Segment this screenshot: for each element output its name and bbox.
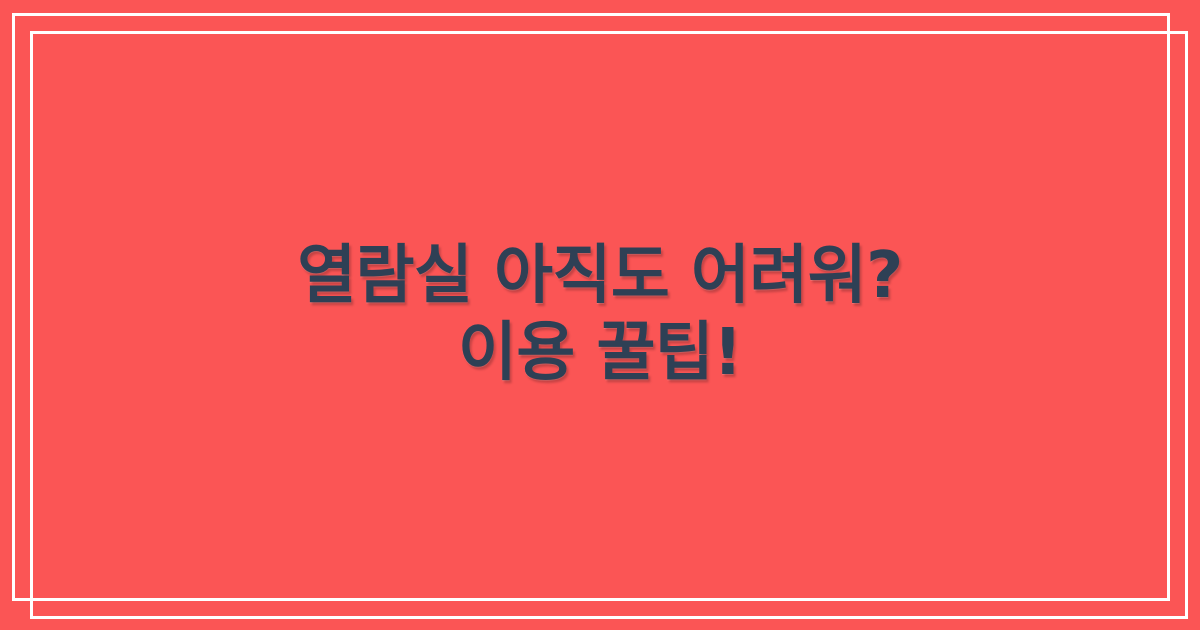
banner-headline: 열람실 아직도 어려워? 이용 꿀팁! <box>237 238 963 392</box>
headline-container: 열람실 아직도 어려워? 이용 꿀팁! <box>0 0 1200 630</box>
banner-card: 열람실 아직도 어려워? 이용 꿀팁! <box>0 0 1200 630</box>
